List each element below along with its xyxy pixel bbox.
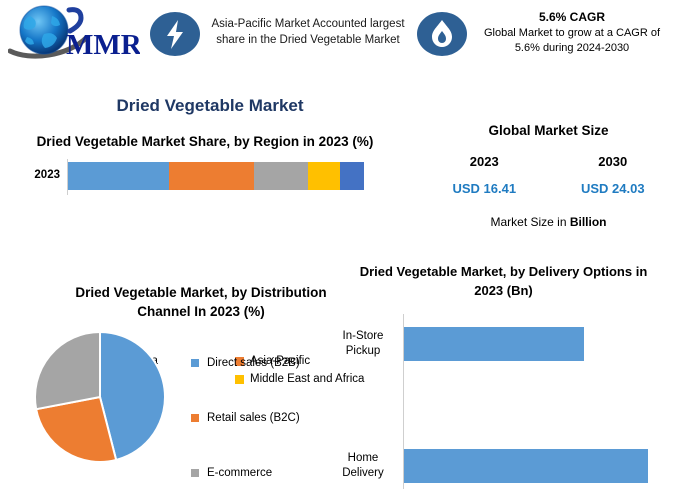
- global-market-size-values: USD 16.41 USD 24.03: [420, 181, 677, 196]
- lightning-bolt-icon: [150, 12, 200, 56]
- region-segment: [340, 162, 364, 190]
- legend-swatch-icon: [191, 359, 199, 367]
- pie-slice: [35, 332, 100, 409]
- global-market-size-years: 2023 2030: [420, 154, 677, 169]
- delivery-bar-row: In-StorePickup: [330, 321, 677, 367]
- pie-chart-graphic: [34, 331, 166, 463]
- apac-note: Asia-Pacific Market Accounted largest sh…: [208, 16, 408, 48]
- pie-chart-title: Dried Vegetable Market, by Distribution …: [56, 283, 346, 321]
- global-market-size-footnote: Market Size in Billion: [420, 215, 677, 229]
- region-stacked-bar: [68, 162, 364, 190]
- global-market-size-title: Global Market Size: [420, 123, 677, 138]
- flame-icon: [417, 12, 467, 56]
- region-segment: [308, 162, 341, 190]
- gms-year-2030: 2030: [549, 154, 677, 169]
- delivery-label-line1: Home: [348, 451, 379, 466]
- header-banner: MMR Asia-Pacific Market Accounted larges…: [0, 0, 677, 82]
- delivery-bar: [404, 327, 584, 361]
- pie-legend-label: Retail sales (B2C): [207, 412, 300, 424]
- global-market-size-panel: Global Market Size 2023 2030 USD 16.41 U…: [420, 123, 677, 229]
- gms-foot-prefix: Market Size in: [490, 215, 569, 229]
- region-segment: [169, 162, 255, 190]
- delivery-label-line2: Delivery: [342, 466, 384, 481]
- delivery-bar-label: HomeDelivery: [330, 443, 396, 489]
- cagr-headline: 5.6% CAGR: [474, 10, 670, 24]
- delivery-bar: [404, 449, 648, 483]
- page-title: Dried Vegetable Market: [0, 96, 420, 116]
- region-share-chart: Dried Vegetable Market Share, by Region …: [0, 132, 410, 195]
- delivery-label-line2: Pickup: [346, 344, 381, 359]
- mmr-logo: MMR: [8, 4, 140, 60]
- gms-value-2030: USD 24.03: [549, 181, 677, 196]
- delivery-bar-label: In-StorePickup: [330, 321, 396, 367]
- gms-value-2023: USD 16.41: [420, 181, 549, 196]
- gms-foot-unit: Billion: [570, 215, 607, 229]
- region-chart-plot: 2023: [0, 159, 410, 195]
- delivery-options-chart: Dried Vegetable Market, by Delivery Opti…: [330, 262, 677, 495]
- cagr-note: Global Market to grow at a CAGR of 5.6% …: [474, 26, 670, 56]
- legend-swatch-icon: [191, 414, 199, 422]
- delivery-bar-row: HomeDelivery: [330, 443, 677, 489]
- delivery-chart-plot: In-StorePickupHomeDelivery: [330, 314, 677, 489]
- svg-text:MMR: MMR: [66, 29, 140, 60]
- cagr-block: 5.6% CAGR Global Market to grow at a CAG…: [474, 10, 670, 56]
- gms-year-2023: 2023: [420, 154, 549, 169]
- region-segment: [68, 162, 169, 190]
- delivery-label-line1: In-Store: [343, 329, 384, 344]
- legend-swatch-icon: [191, 469, 199, 477]
- region-category-label: 2023: [18, 169, 60, 181]
- delivery-chart-title: Dried Vegetable Market, by Delivery Opti…: [354, 262, 654, 300]
- pie-legend-label: Direct sales (B2B): [207, 357, 300, 369]
- region-segment: [254, 162, 307, 190]
- pie-legend-label: E-commerce: [207, 467, 272, 479]
- region-chart-title: Dried Vegetable Market Share, by Region …: [20, 132, 390, 151]
